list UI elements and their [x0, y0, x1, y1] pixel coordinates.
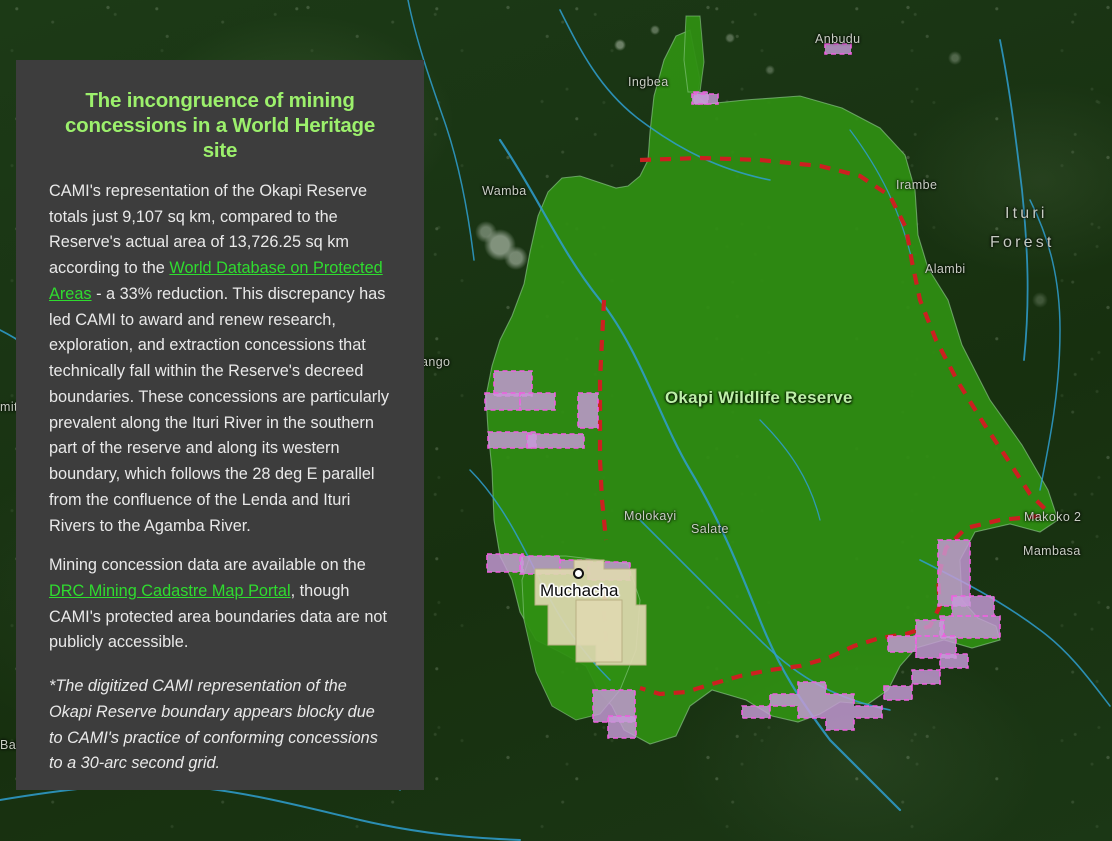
panel-title: The incongruence of mining concessions i…	[49, 88, 391, 163]
panel-paragraph-1: CAMI's representation of the Okapi Reser…	[49, 179, 391, 539]
panel-paragraph-2: Mining concession data are available on …	[49, 553, 391, 656]
panel-footnote: *The digitized CAMI representation of th…	[49, 674, 391, 777]
drc-mining-cadastre-link[interactable]: DRC Mining Cadastre Map Portal	[49, 582, 291, 600]
map-screenshot: IngbeaAnbuduWambaIrambeIturiForestAlambi…	[0, 0, 1112, 841]
info-panel: The incongruence of mining concessions i…	[16, 60, 424, 790]
paragraph-1-text-b: - a 33% reduction. This discrepancy has …	[49, 285, 389, 535]
paragraph-2-text-a: Mining concession data are available on …	[49, 556, 366, 574]
